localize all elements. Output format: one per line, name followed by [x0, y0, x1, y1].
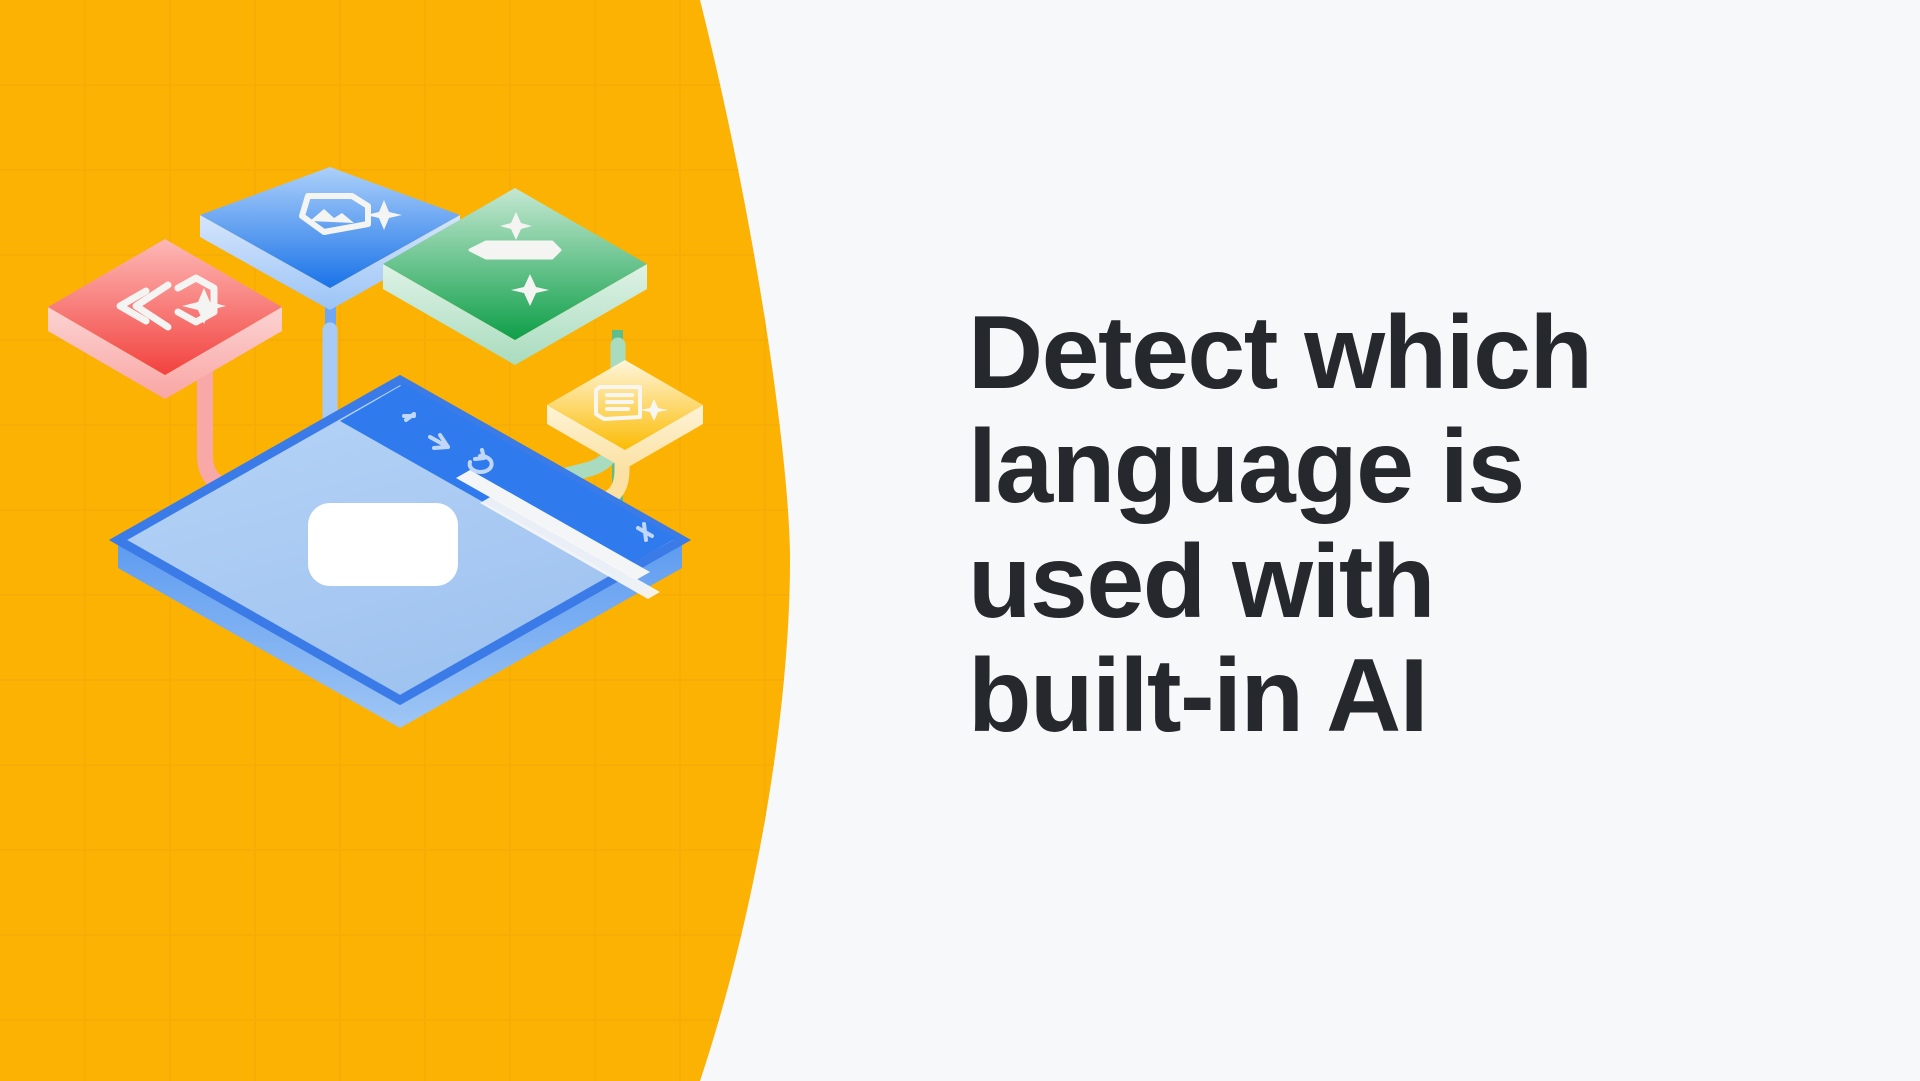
- page-title: Detect which language is used with built…: [968, 296, 1808, 754]
- hub-card: [308, 503, 458, 586]
- slide-canvas: Detect which language is used with built…: [0, 0, 1920, 1081]
